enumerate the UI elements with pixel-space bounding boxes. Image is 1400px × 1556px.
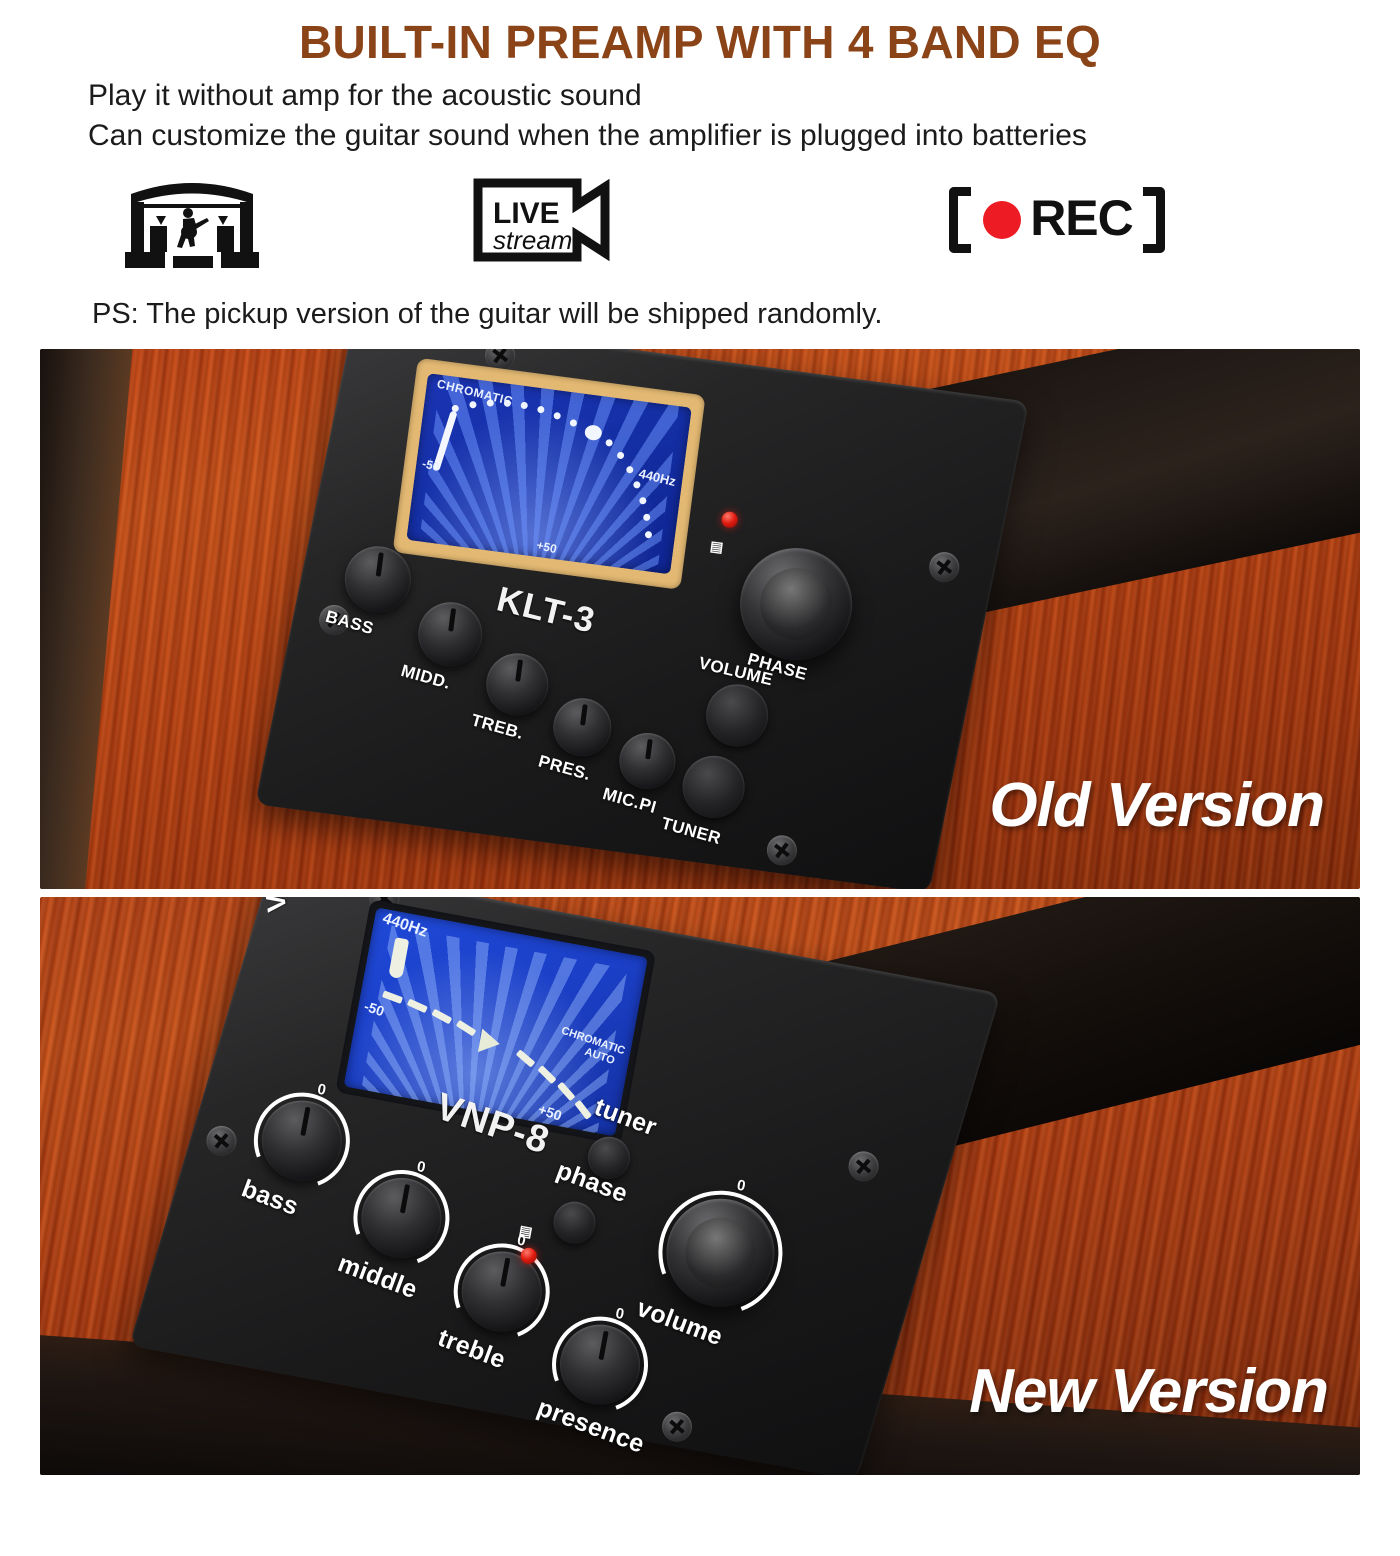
screw-top-right (927, 550, 961, 584)
stage-concert-icon-slot (92, 172, 292, 268)
rec-icon-slot: REC (792, 187, 1322, 253)
knob-middle-old[interactable] (414, 598, 486, 670)
subtitle-line-2: Can customize the guitar sound when the … (88, 116, 1270, 156)
battery-icon-old: ▤ (709, 538, 724, 557)
tuner-lcd-old: CHROMATIC 440Hz -50 +50 (406, 373, 692, 574)
subtitle-line-1: Play it without amp for the acoustic sou… (88, 76, 1270, 116)
knob-marker-volume: 0 (735, 1177, 746, 1195)
ps-note: PS: The pickup version of the guitar wil… (0, 268, 1400, 349)
live-stream-secondary-label: stream (493, 225, 572, 255)
screw-bottom-right (660, 1409, 695, 1444)
caption-new-version: New Version (969, 1356, 1328, 1427)
subtitle-block: Play it without amp for the acoustic sou… (0, 72, 1270, 156)
photo-new-version: VANGOA 440Hz (40, 897, 1360, 1475)
preamp-unit-old[interactable]: CHROMATIC 440Hz -50 +50 KLT-3 ▤ VOLUME B… (255, 349, 1029, 889)
screw-bottom-left (204, 1124, 239, 1159)
rec-bracket-left (949, 187, 971, 253)
live-stream-icon: LIVE stream (473, 177, 611, 263)
button-tuner-old[interactable] (679, 752, 749, 822)
screw-top-right (846, 1149, 881, 1184)
photo-old-version: CHROMATIC 440Hz -50 +50 KLT-3 ▤ VOLUME B… (40, 349, 1360, 889)
rec-icon: REC (949, 187, 1165, 253)
caption-old-version: Old Version (989, 770, 1324, 841)
knob-presence-old[interactable] (550, 695, 615, 760)
button-phase-new[interactable] (550, 1198, 599, 1247)
label-tuner-old: TUNER (659, 814, 723, 850)
knob-micpi-old[interactable] (616, 730, 679, 793)
page-title: BUILT-IN PREAMP WITH 4 BAND EQ (0, 0, 1400, 72)
tuner-center-dot (584, 424, 603, 441)
live-stream-icon-slot: LIVE stream (292, 177, 792, 263)
battery-icon-new: ▤ (518, 1222, 534, 1241)
knob-marker-bass: 0 (316, 1081, 327, 1099)
knob-treble-old[interactable] (483, 650, 553, 720)
tuner-display-bezel-old: CHROMATIC 440Hz -50 +50 (393, 358, 706, 590)
stage-concert-icon (117, 172, 267, 268)
feature-icon-row: LIVE stream REC (92, 156, 1322, 268)
knob-marker-presence: 0 (614, 1305, 625, 1323)
brand-logo-new: VANGOA (247, 897, 294, 914)
battery-led-old (721, 511, 739, 529)
rec-bracket-right (1143, 187, 1165, 253)
rec-label: REC (1030, 193, 1143, 247)
preamp-model-label-old: KLT-3 (493, 580, 599, 642)
rec-dot-icon (983, 201, 1021, 239)
volume-knob-old[interactable] (733, 541, 859, 667)
knob-marker-middle: 0 (416, 1158, 427, 1176)
label-presence-old: PRES. (536, 752, 593, 786)
label-micpi-old: MIC.PI (600, 784, 658, 818)
label-middle-old: MIDD. (399, 661, 453, 694)
button-phase-old[interactable] (702, 681, 772, 751)
screw-bottom-right (765, 834, 799, 868)
